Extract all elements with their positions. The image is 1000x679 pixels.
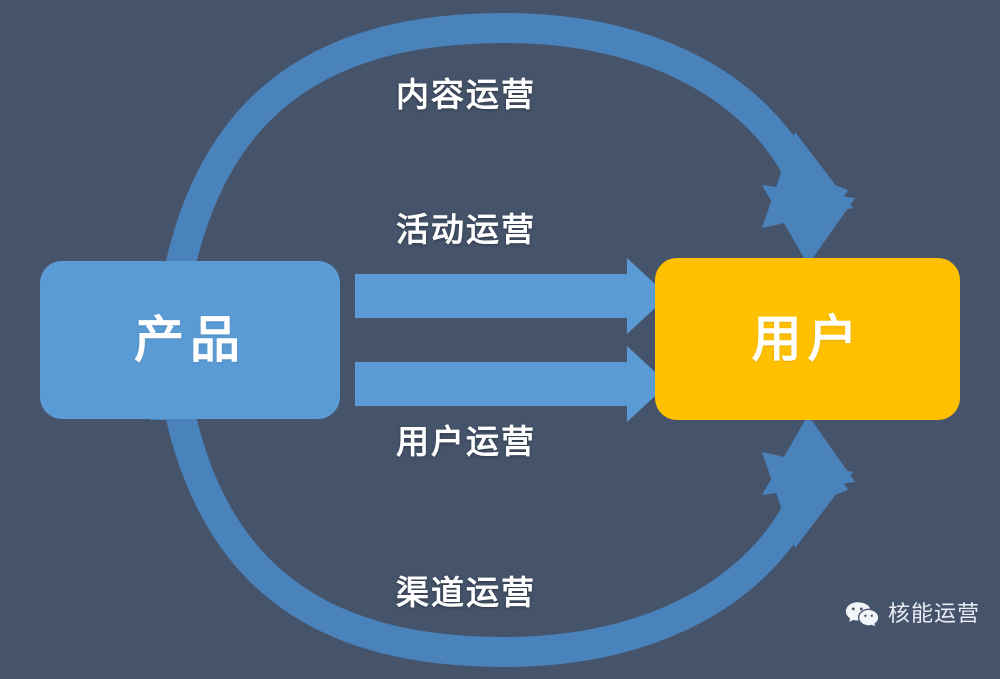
edge-label-channel: 渠道运营 (396, 576, 536, 609)
edge-label-useropx: 用户运营 (396, 425, 536, 458)
watermark: 核能运营 (845, 601, 980, 627)
watermark-label: 核能运营 (888, 603, 980, 625)
straight-arrow-activity (355, 258, 668, 334)
straight-arrow-useropx (355, 346, 668, 422)
node-user[interactable]: 用户 (655, 258, 960, 420)
wechat-icon (845, 601, 879, 627)
edge-label-activity: 活动运营 (396, 213, 536, 246)
node-product[interactable]: 产品 (40, 261, 340, 419)
node-product-label: 产品 (134, 315, 246, 365)
diagram-canvas: 产品 用户 内容运营 活动运营 用户运营 渠道运营 核能运营 (0, 0, 1000, 679)
node-user-label: 用户 (752, 314, 864, 364)
edge-label-content: 内容运营 (396, 78, 536, 111)
